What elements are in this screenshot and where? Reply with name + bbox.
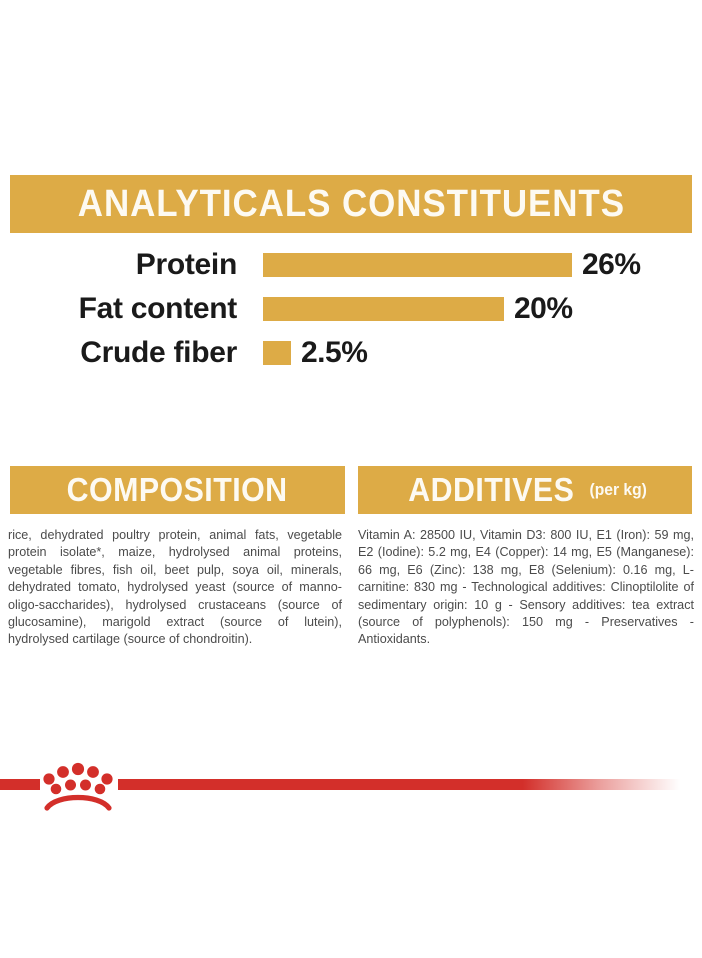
- constituent-label-crude-fiber: Crude fiber: [0, 336, 237, 370]
- constituent-bar-group-protein: 26%: [263, 248, 641, 282]
- table-row: Protein 26%: [0, 243, 702, 287]
- constituent-label-protein: Protein: [0, 248, 237, 282]
- analyticals-constituents-chart: Protein 26% Fat content 20% Crude fiber …: [0, 243, 702, 375]
- additives-banner: ADDITIVES (per kg): [358, 466, 692, 514]
- brand-rule-left: [0, 779, 40, 790]
- brand-footer: [0, 752, 702, 822]
- nutrition-panel: ANALYTICALS CONSTITUENTS Protein 26% Fat…: [0, 0, 702, 958]
- composition-title: COMPOSITION: [67, 471, 288, 509]
- composition-text: rice, dehydrated poultry protein, animal…: [8, 527, 342, 649]
- table-row: Crude fiber 2.5%: [0, 331, 702, 375]
- constituent-bar-crude-fiber: [263, 341, 291, 365]
- additives-subtitle: (per kg): [590, 480, 647, 500]
- constituent-value-crude-fiber: 2.5%: [301, 336, 367, 370]
- additives-text: Vitamin A: 28500 IU, Vitamin D3: 800 IU,…: [358, 527, 694, 649]
- constituent-bar-fat-content: [263, 297, 504, 321]
- table-row: Fat content 20%: [0, 287, 702, 331]
- brand-rule-right: [118, 779, 680, 790]
- additives-title: ADDITIVES: [408, 471, 574, 509]
- constituent-bar-group-fat-content: 20%: [263, 292, 573, 326]
- constituent-value-fat-content: 20%: [514, 292, 573, 326]
- constituent-label-fat-content: Fat content: [0, 292, 237, 326]
- constituent-bar-protein: [263, 253, 572, 277]
- composition-banner: COMPOSITION: [10, 466, 345, 514]
- analyticals-constituents-title: ANALYTICALS CONSTITUENTS: [77, 183, 624, 226]
- constituent-bar-group-crude-fiber: 2.5%: [263, 336, 367, 370]
- royal-canin-crown-icon: [41, 756, 115, 812]
- analyticals-constituents-banner: ANALYTICALS CONSTITUENTS: [10, 175, 692, 233]
- constituent-value-protein: 26%: [582, 248, 641, 282]
